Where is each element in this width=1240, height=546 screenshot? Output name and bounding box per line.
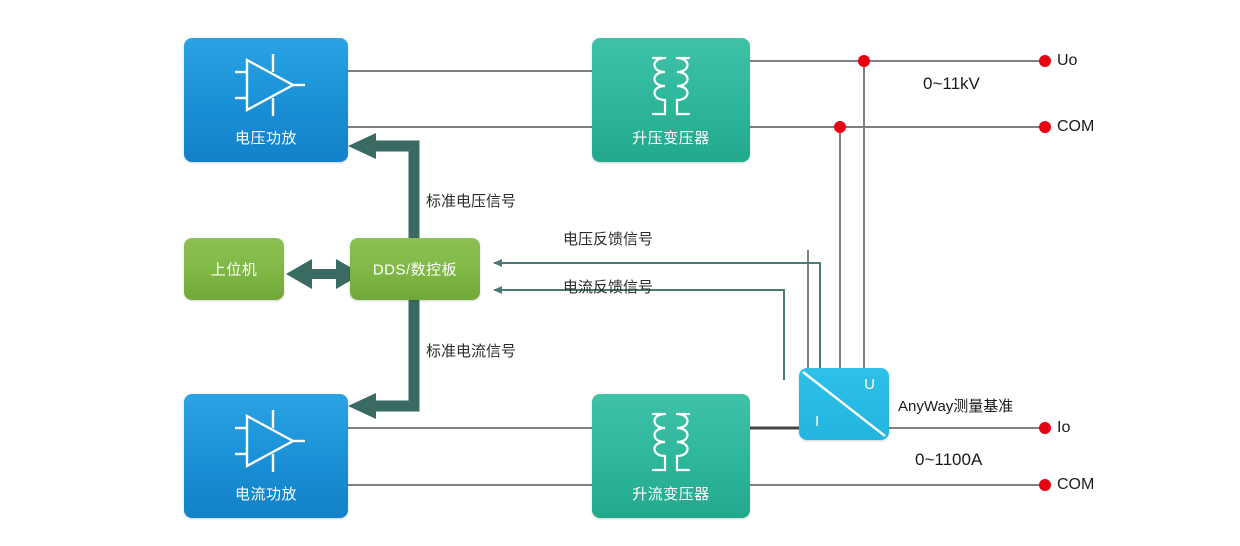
arrowhead-standard-current xyxy=(348,393,376,419)
path-voltage-feedback xyxy=(494,263,820,380)
label-terminal-com-top: COM xyxy=(1057,118,1094,136)
transformer-coils-icon xyxy=(592,52,750,120)
path-current-feedback xyxy=(494,290,784,380)
terminal-dot-com-bottom xyxy=(1039,479,1051,491)
node-host-computer[interactable]: 上位机 xyxy=(184,238,284,300)
node-label: DDS/数控板 xyxy=(350,259,480,280)
label-terminal-uo: Uo xyxy=(1057,52,1077,70)
junction-dot-uo xyxy=(858,55,870,67)
label-voltage-range: 0~11kV xyxy=(923,74,980,94)
label-standard-voltage-signal: 标准电压信号 xyxy=(426,190,516,211)
node-voltage-transformer[interactable]: 升压变压器 xyxy=(592,38,750,162)
node-current-amplifier[interactable]: 电流功放 xyxy=(184,394,348,518)
node-dds-board[interactable]: DDS/数控板 xyxy=(350,238,480,300)
node-current-transformer[interactable]: 升流变压器 xyxy=(592,394,750,518)
label-voltage-feedback-signal: 电压反馈信号 xyxy=(563,228,653,249)
label-standard-current-signal: 标准电流信号 xyxy=(426,340,516,361)
label-measurement-reference: AnyWay测量基准 xyxy=(898,395,1013,416)
node-label: 电压功放 xyxy=(184,127,348,148)
junction-dot-com xyxy=(834,121,846,133)
node-voltage-amplifier[interactable]: 电压功放 xyxy=(184,38,348,162)
node-label: 电流功放 xyxy=(184,483,348,504)
node-label: 上位机 xyxy=(184,259,284,280)
transformer-coils-icon xyxy=(592,408,750,476)
node-measurement-reference[interactable]: U I xyxy=(799,368,889,440)
arrowhead-standard-voltage xyxy=(348,133,376,159)
label-current-range: 0~1100A xyxy=(915,450,982,470)
measure-glyph-i: I xyxy=(815,413,819,430)
measure-diagonal-icon xyxy=(799,368,889,440)
diagram-canvas: 电压功放 升压变压器 上位机 DDS/数控板 xyxy=(0,0,1240,546)
path-standard-voltage-signal xyxy=(372,146,414,238)
terminal-dot-com-top xyxy=(1039,121,1051,133)
label-current-feedback-signal: 电流反馈信号 xyxy=(563,276,653,297)
terminal-dot-uo xyxy=(1039,55,1051,67)
measure-glyph-u: U xyxy=(864,376,875,393)
node-label: 升压变压器 xyxy=(592,127,750,148)
amplifier-triangle-icon xyxy=(184,52,348,118)
path-standard-current-signal xyxy=(372,298,414,406)
label-terminal-com-bottom: COM xyxy=(1057,476,1094,494)
terminal-dot-io xyxy=(1039,422,1051,434)
node-label: 升流变压器 xyxy=(592,483,750,504)
amplifier-triangle-icon xyxy=(184,408,348,474)
label-terminal-io: Io xyxy=(1057,419,1070,437)
